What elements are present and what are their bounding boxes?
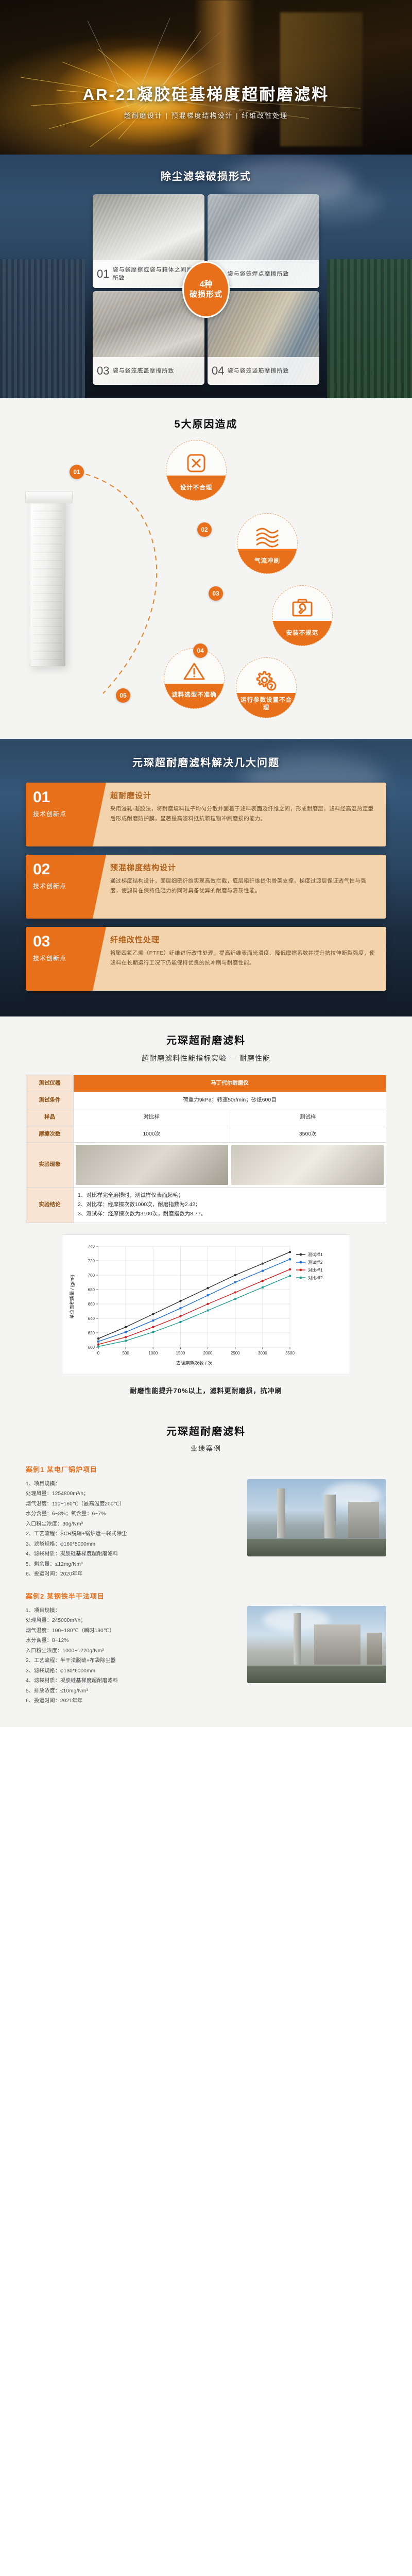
list-item: 烟气温度：110~160℃（最高温度200℃） (26, 1499, 241, 1510)
cases-subheading: 业绩案例 (0, 1443, 412, 1453)
list-item: 4、滤袋材质：凝胶硅基梯度超耐磨滤料 (26, 1676, 241, 1686)
hero-subtitle: 超耐磨设计 | 预混梯度结构设计 | 纤维改性处理 (0, 110, 412, 120)
solution-heading: 纤维改性处理 (110, 934, 377, 945)
reason-label: 滤料选型不准确 (164, 684, 224, 708)
metal-plate-shape (280, 12, 363, 146)
reasons-title: 5大原因造成 (0, 416, 412, 431)
solution-number: 02 (33, 862, 93, 877)
case-photo (247, 1479, 386, 1556)
list-item: 1、项目规模： (26, 1479, 241, 1489)
test-heading: 元琛超耐磨滤料 (0, 1032, 412, 1047)
solution-text: 通过梯度结构设计，面层细密纤维实现高效拦截，底层粗纤维提供骨架支撑，梯度过渡层保… (110, 876, 377, 896)
svg-text:0: 0 (97, 1351, 100, 1355)
case-title: 案例2 某钢铁半干法项目 (26, 1591, 386, 1601)
reasons-diagram: 01 02 03 04 05 设计不合理 (0, 436, 412, 724)
list-item: 3、滤袋规格：φ160*5000mm (26, 1539, 241, 1550)
building-silhouette (327, 259, 412, 398)
solution-text: 将聚四氟乙烯（PTFE）纤维进行改性处理，提高纤维表面光滑度、降低摩擦系数并提升… (110, 948, 377, 969)
ground-shape (247, 1539, 386, 1556)
table-header-instrument-value: 马丁代尔耐磨仪 (74, 1075, 386, 1092)
svg-text:3500: 3500 (285, 1351, 295, 1355)
reason-node-selection[interactable]: 滤料选型不准确 (164, 648, 225, 709)
chimney-shape (324, 1495, 336, 1538)
reason-label: 安装不规范 (272, 621, 332, 646)
toolbox-wrench-icon (272, 594, 332, 623)
solution-card[interactable]: 03 技术创新点 纤维改性处理 将聚四氟乙烯（PTFE）纤维进行改性处理，提高纤… (26, 927, 386, 991)
list-item: 水分含量：6~8%；氧含量：6~7% (26, 1509, 241, 1519)
table-value-conclusion: 1、对比样完全磨损时，测试样仅表面起毛； 2、对比样：经摩擦次数1000次，耐磨… (74, 1188, 386, 1223)
solution-card-body: 超耐磨设计 采用浸轧-凝胶法，将耐磨填料粒子均匀分散并固着于滤料表面及纤维之间，… (93, 783, 386, 846)
reason-label: 气流冲刷 (237, 549, 297, 573)
reason-node-design[interactable]: 设计不合理 (166, 440, 227, 501)
test-section: 元琛超耐磨滤料 超耐磨滤料性能指标实验 — 耐磨性能 测试仪器 马丁代尔耐磨仪 … (0, 1016, 412, 1409)
svg-text:720: 720 (88, 1259, 95, 1263)
solution-card-body: 预混梯度结构设计 通过梯度结构设计，面层细密纤维实现高效拦截，底层粗纤维提供骨架… (93, 855, 386, 919)
case-item[interactable]: 案例2 某钢铁半干法项目 1、项目规模： 处理风量：245000m³/h； 烟气… (26, 1591, 386, 1706)
list-item: 烟气温度：100~180℃（瞬时190℃） (26, 1626, 241, 1636)
chart-svg: 6006206406606807007207400500100015002000… (66, 1239, 347, 1368)
cases-section: 元琛超耐磨滤料 业绩案例 案例1 某电厂锅炉项目 1、项目规模： 处理风量：12… (0, 1409, 412, 1727)
hero-banner: AR-21凝胶硅基梯度超耐磨滤料 超耐磨设计 | 预混梯度结构设计 | 纤维改性… (0, 0, 412, 155)
airflow-icon (237, 522, 297, 551)
svg-text:680: 680 (88, 1287, 95, 1292)
damage-section-title: 除尘滤袋破损形式 (0, 168, 412, 183)
reason-step-05[interactable]: 05 (116, 688, 130, 703)
solution-tag: 技术创新点 (33, 809, 93, 818)
badge-line-1: 4种 (200, 280, 213, 290)
phenomenon-photo-test (231, 1145, 384, 1185)
solution-card-index: 01 技术创新点 (26, 783, 93, 846)
table-key-conditions: 测试条件 (26, 1092, 74, 1109)
table-row: 摩擦次数 1000次 3500次 (26, 1126, 386, 1143)
damage-number: 03 (97, 365, 109, 377)
table-row: 样品 对比样 测试样 (26, 1109, 386, 1126)
list-item: 5、剩余量：≤12mg/Nm³ (26, 1560, 241, 1570)
damage-number: 01 (97, 268, 109, 280)
case-photo (247, 1606, 386, 1683)
cases-heading: 元琛超耐磨滤料 (0, 1423, 412, 1438)
table-key-conclusion: 实验结论 (26, 1188, 74, 1223)
reasons-section: 5大原因造成 01 02 03 04 05 设计不合理 (0, 398, 412, 739)
damage-text: 袋与袋笼底盖摩擦所致 (112, 367, 174, 376)
solution-heading: 超耐磨设计 (110, 790, 377, 801)
reason-node-params[interactable]: 运行参数设置不合理 (236, 657, 297, 718)
svg-text:2000: 2000 (203, 1351, 213, 1355)
svg-text:600: 600 (88, 1345, 95, 1350)
badge-line-2: 破损形式 (190, 290, 222, 300)
machine-shape (194, 0, 255, 155)
table-value-sample-test: 测试样 (230, 1109, 386, 1126)
table-value-conditions: 荷重力9kPa；转速50r/min；砂纸600目 (74, 1092, 386, 1109)
svg-text:对比样1: 对比样1 (308, 1267, 323, 1273)
phenomenon-photo-control (76, 1145, 228, 1185)
case-item[interactable]: 案例1 某电厂锅炉项目 1、项目规模： 处理风量：1254800m³/h； 烟气… (26, 1464, 386, 1580)
gear-question-icon (236, 666, 296, 695)
svg-text:700: 700 (88, 1273, 95, 1278)
page-title: AR-21凝胶硅基梯度超耐磨滤料 (0, 81, 412, 105)
list-item: 2、工艺流程：半干法脱硫+布袋除尘器 (26, 1656, 241, 1666)
plant-building (314, 1624, 360, 1665)
reason-node-airflow[interactable]: 气流冲刷 (237, 513, 298, 574)
list-item: 5、排放浓度：≤10mg/Nm³ (26, 1686, 241, 1697)
damage-count-badge: 4种 破损形式 (182, 261, 230, 318)
solutions-title: 元琛超耐磨滤料解决几大问题 (0, 754, 412, 769)
table-row: 测试条件 荷重力9kPa；转速50r/min；砂纸600目 (26, 1092, 386, 1109)
svg-text:620: 620 (88, 1331, 95, 1335)
list-item: 4、滤袋材质：凝胶硅基梯度超耐磨滤料 (26, 1549, 241, 1560)
list-item: 入口粉尘浓度：1000~1220g/Nm³ (26, 1646, 241, 1656)
list-item: 入口粉尘浓度：30g/Nm³ (26, 1519, 241, 1530)
svg-text:660: 660 (88, 1302, 95, 1307)
solution-card-index: 03 技术创新点 (26, 927, 93, 991)
case-spec-list: 1、项目规模： 处理风量：245000m³/h； 烟气温度：100~180℃（瞬… (26, 1606, 241, 1706)
list-item: 6、投运时间：2020年年 (26, 1569, 241, 1580)
table-value-sample-control: 对比样 (74, 1109, 230, 1126)
damage-caption: 04 袋与袋笼竖筋摩擦所致 (208, 357, 319, 385)
svg-text:单位面积质量 / (g/m²): 单位面积质量 / (g/m²) (69, 1275, 75, 1319)
table-key-sample: 样品 (26, 1109, 74, 1126)
svg-text:测试样1: 测试样1 (308, 1252, 323, 1257)
table-key-cycles: 摩擦次数 (26, 1126, 74, 1143)
svg-text:对比样2: 对比样2 (308, 1275, 323, 1280)
test-subheading: 超耐磨滤料性能指标实验 — 耐磨性能 (0, 1053, 412, 1063)
damage-number: 04 (212, 365, 224, 377)
case-body: 1、项目规模： 处理风量：245000m³/h； 烟气温度：100~180℃（瞬… (26, 1606, 386, 1706)
svg-text:测试样2: 测试样2 (308, 1260, 323, 1265)
chimney-shape (277, 1488, 285, 1538)
list-item: 6、投运时间：2021年年 (26, 1696, 241, 1706)
svg-text:1500: 1500 (176, 1351, 185, 1355)
abrasion-chart: 6006206406606807007207400500100015002000… (62, 1234, 350, 1375)
svg-text:3000: 3000 (258, 1351, 267, 1355)
reason-step-01[interactable]: 01 (70, 465, 84, 479)
reason-label: 运行参数设置不合理 (236, 693, 296, 718)
table-value-phenomenon (74, 1143, 386, 1188)
solutions-section: 元琛超耐磨滤料解决几大问题 01 技术创新点 超耐磨设计 采用浸轧-凝胶法，将耐… (0, 739, 412, 1016)
svg-text:去除磨耗次数 / 次: 去除磨耗次数 / 次 (176, 1360, 213, 1366)
solution-heading: 预混梯度结构设计 (110, 862, 377, 873)
damage-text: 袋与袋笼竖筋摩擦所致 (227, 367, 289, 376)
solution-number: 01 (33, 790, 93, 805)
solution-card-index: 02 技术创新点 (26, 855, 93, 919)
solution-card-body: 纤维改性处理 将聚四氟乙烯（PTFE）纤维进行改性处理，提高纤维表面光滑度、降低… (93, 927, 386, 991)
solution-text: 采用浸轧-凝胶法，将耐磨填料粒子均匀分散并固着于滤料表面及纤维之间，形成耐磨层，… (110, 804, 377, 824)
damage-text: 袋与袋笼焊点摩擦所致 (227, 270, 289, 279)
solution-card[interactable]: 02 技术创新点 预混梯度结构设计 通过梯度结构设计，面层细密纤维实现高效拦截，… (26, 855, 386, 919)
reason-step-02[interactable]: 02 (197, 522, 212, 537)
table-row: 实验结论 1、对比样完全磨损时，测试样仅表面起毛； 2、对比样：经摩擦次数100… (26, 1188, 386, 1223)
reason-node-install[interactable]: 安装不规范 (272, 585, 333, 646)
solution-tag: 技术创新点 (33, 882, 93, 890)
product-detail-page: AR-21凝胶硅基梯度超耐磨滤料 超耐磨设计 | 预混梯度结构设计 | 纤维改性… (0, 0, 412, 1727)
reason-label: 设计不合理 (166, 476, 226, 500)
svg-text:740: 740 (88, 1244, 95, 1249)
table-header-instrument: 测试仪器 (26, 1075, 74, 1092)
list-item: 处理风量：245000m³/h； (26, 1616, 241, 1626)
cross-box-icon (166, 449, 226, 478)
table-key-phenomenon: 实验现象 (26, 1143, 74, 1188)
building-silhouette (0, 259, 85, 398)
svg-text:640: 640 (88, 1316, 95, 1321)
plant-building (367, 1633, 382, 1665)
solution-tag: 技术创新点 (33, 954, 93, 962)
damage-caption: 03 袋与袋笼底盖摩擦所致 (93, 357, 204, 385)
list-item: 处理风量：1254800m³/h； (26, 1489, 241, 1499)
ground-shape (247, 1666, 386, 1683)
list-item: 水分含量：8~12% (26, 1636, 241, 1646)
table-row: 实验现象 (26, 1143, 386, 1188)
solution-card[interactable]: 01 技术创新点 超耐磨设计 采用浸轧-凝胶法，将耐磨填料粒子均匀分散并固着于滤… (26, 783, 386, 846)
damage-grid: 01 袋与袋摩擦或袋与箱体之间摩擦所致 02 袋与袋笼焊点摩擦所致 03 袋与袋… (93, 194, 319, 385)
case-spec-list: 1、项目规模： 处理风量：1254800m³/h； 烟气温度：110~160℃（… (26, 1479, 241, 1580)
svg-text:1000: 1000 (148, 1351, 158, 1355)
table-value-cycles-control: 1000次 (74, 1126, 230, 1143)
list-item: 2、工艺流程：SCR脱硝+锅炉运一袋式除尘 (26, 1529, 241, 1539)
solution-number: 03 (33, 934, 93, 950)
plant-building (348, 1502, 379, 1538)
test-result-table: 测试仪器 马丁代尔耐磨仪 测试条件 荷重力9kPa；转速50r/min；砂纸60… (26, 1075, 386, 1223)
reason-step-04[interactable]: 04 (193, 643, 208, 658)
table-value-cycles-test: 3500次 (230, 1126, 386, 1143)
reason-step-03[interactable]: 03 (209, 586, 223, 601)
svg-text:500: 500 (122, 1351, 129, 1355)
damage-forms-section: 除尘滤袋破损形式 01 袋与袋摩擦或袋与箱体之间摩擦所致 02 袋与袋笼焊点摩擦… (0, 155, 412, 398)
list-item: 3、滤袋规格：φ130*6000mm (26, 1666, 241, 1676)
test-conclusion: 耐磨性能提升70%以上，滤料更耐磨损，抗冲刷 (0, 1385, 412, 1395)
warning-triangle-icon (164, 657, 224, 686)
chimney-shape (294, 1613, 301, 1665)
case-title: 案例1 某电厂锅炉项目 (26, 1464, 386, 1474)
list-item: 1、项目规模： (26, 1606, 241, 1616)
svg-text:2500: 2500 (231, 1351, 240, 1355)
table-row: 测试仪器 马丁代尔耐磨仪 (26, 1075, 386, 1092)
case-body: 1、项目规模： 处理风量：1254800m³/h； 烟气温度：110~160℃（… (26, 1479, 386, 1580)
